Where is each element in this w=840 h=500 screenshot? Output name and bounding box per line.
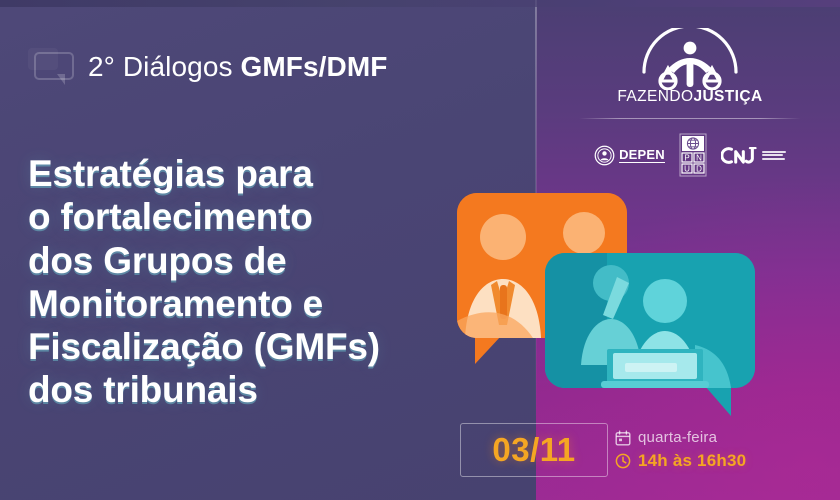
event-time-row: 14h às 16h30 (615, 449, 830, 472)
event-weekday: quarta-feira (638, 429, 717, 446)
partner-label-depen: DEPEN (619, 148, 665, 163)
headline-line: Estratégias para (28, 152, 498, 195)
depen-seal-icon (594, 145, 615, 166)
headline-line: o fortalecimento (28, 195, 498, 238)
brand-name: FAZENDOJUSTIÇA (560, 88, 820, 106)
speech-bubble-photo-teal (545, 253, 755, 388)
svg-text:P: P (684, 153, 689, 162)
logo-divider (579, 118, 801, 119)
photo-laptop-duotone (545, 253, 755, 388)
poster-header: 2° Diálogos GMFs/DMF (28, 48, 388, 86)
series-title-light: 2° Diálogos (88, 51, 240, 82)
partner-logo-depen: DEPEN (594, 145, 665, 166)
svg-text:N: N (696, 153, 702, 162)
series-title-bold: GMFs/DMF (240, 51, 387, 82)
event-date: 03/11 (492, 431, 575, 469)
speech-bubble-icon (28, 48, 74, 86)
cnj-subtitle (762, 151, 786, 160)
top-accent-bar (0, 0, 840, 7)
headline-line: dos tribunais (28, 368, 498, 411)
brand-name-thick: JUSTIÇA (693, 88, 762, 105)
svg-text:U: U (684, 164, 690, 173)
headline-line: Monitoramento e (28, 282, 498, 325)
brand-logo-block: FAZENDOJUSTIÇA DEPEN (560, 28, 820, 177)
svg-text:D: D (696, 164, 702, 173)
event-weekday-row: quarta-feira (615, 426, 830, 449)
partner-logo-cnj (721, 146, 786, 165)
calendar-icon (615, 430, 631, 446)
headline-line: dos Grupos de (28, 239, 498, 282)
event-series-title: 2° Diálogos GMFs/DMF (88, 51, 388, 83)
event-schedule-meta: quarta-feira 14h às 16h30 (615, 426, 830, 472)
clock-icon (615, 453, 631, 469)
event-date-badge: 03/11 (460, 423, 608, 477)
pnud-globe-icon: P N U D (679, 133, 707, 177)
event-time: 14h às 16h30 (638, 451, 746, 471)
scales-of-justice-icon (634, 28, 746, 90)
brand-name-thin: FAZENDO (617, 88, 693, 105)
event-poster: 2° Diálogos GMFs/DMF Estratégias para o … (0, 0, 840, 500)
cnj-logo-icon (721, 146, 759, 165)
page-title: Estratégias para o fortalecimento dos Gr… (28, 152, 498, 412)
partner-logo-pnud: P N U D (679, 133, 707, 177)
headline-line: Fiscalização (GMFs) (28, 325, 498, 368)
partner-logos: DEPEN P N U D (560, 133, 820, 177)
